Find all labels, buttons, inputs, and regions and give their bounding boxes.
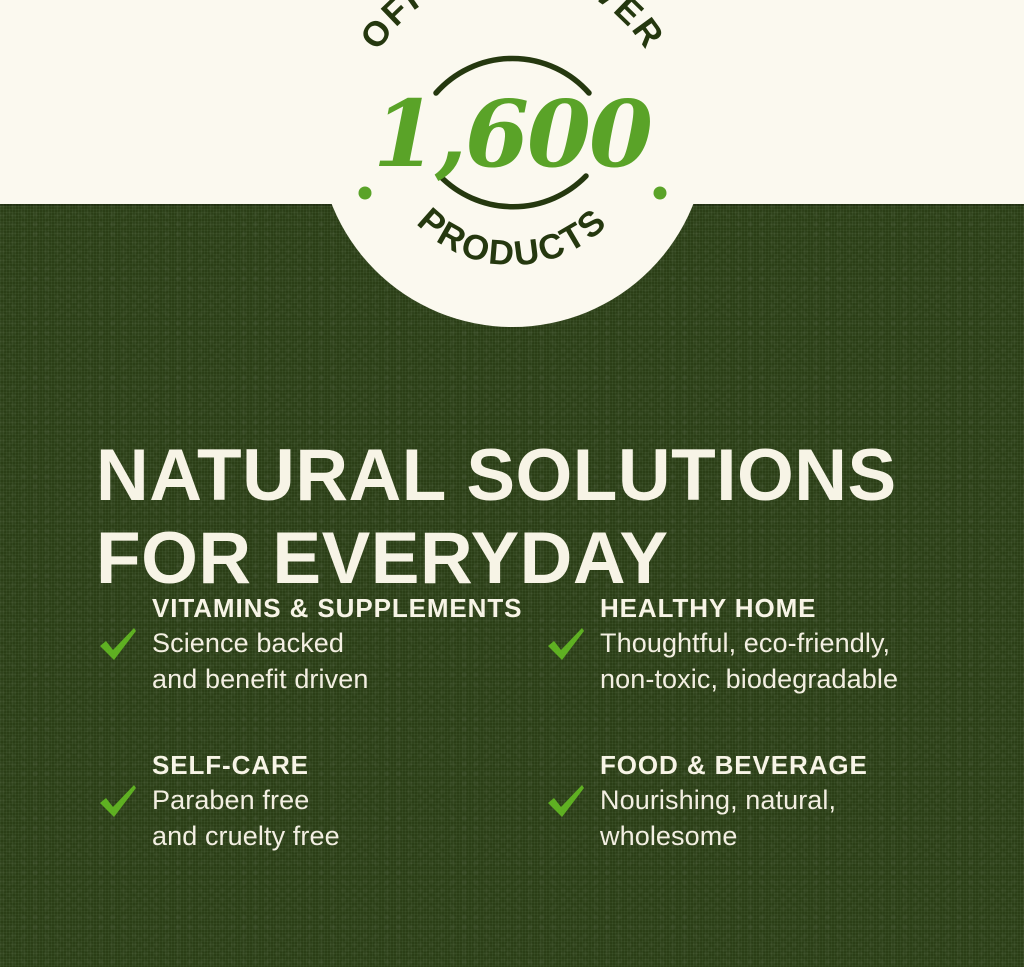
feature-desc-line-1: Thoughtful, eco-friendly, xyxy=(600,625,898,661)
feature-title-line-1: VITAMINS & xyxy=(152,593,309,623)
feature-title-line-1: FOOD & BEVERAGE xyxy=(600,750,868,780)
feature-item-self-care: SELF-CARE Paraben free and cruelty free xyxy=(96,749,544,854)
feature-desc-line-1: Nourishing, natural, xyxy=(600,782,868,818)
badge-graphic: OFFERING OVER PRODUCTS 1,600 xyxy=(318,0,707,327)
feature-title: FOOD & BEVERAGE xyxy=(600,749,868,782)
page-title: NATURAL SOLUTIONS FOR EVERYDAY xyxy=(96,434,976,600)
feature-title-line-2: SUPPLEMENTS xyxy=(317,593,522,623)
badge-dot-right xyxy=(654,187,667,200)
offering-over-products-badge: OFFERING OVER PRODUCTS 1,600 xyxy=(318,0,707,327)
feature-body: VITAMINS & SUPPLEMENTS Science backed an… xyxy=(152,592,522,697)
feature-title: SELF-CARE xyxy=(152,749,340,782)
feature-item-food-beverage: FOOD & BEVERAGE Nourishing, natural, who… xyxy=(544,749,984,854)
feature-list: VITAMINS & SUPPLEMENTS Science backed an… xyxy=(96,592,984,854)
feature-desc-line-2: and benefit driven xyxy=(152,661,522,697)
feature-desc-line-1: Science backed xyxy=(152,625,522,661)
headline-line-2: FOR EVERYDAY xyxy=(96,517,976,600)
feature-item-healthy-home: HEALTHY HOME Thoughtful, eco-friendly, n… xyxy=(544,592,984,697)
check-icon xyxy=(544,623,588,667)
feature-body: HEALTHY HOME Thoughtful, eco-friendly, n… xyxy=(600,592,898,697)
feature-desc-line-2: wholesome xyxy=(600,818,868,854)
feature-title-line-1: SELF-CARE xyxy=(152,750,309,780)
feature-body: FOOD & BEVERAGE Nourishing, natural, who… xyxy=(600,749,868,854)
promotional-banner: OFFERING OVER PRODUCTS 1,600 NATURAL SOL… xyxy=(0,0,1024,967)
feature-title-line-1: HEALTHY HOME xyxy=(600,593,816,623)
badge-dot-left xyxy=(359,187,372,200)
feature-description: Paraben free and cruelty free xyxy=(152,782,340,854)
check-icon xyxy=(96,780,140,824)
check-icon xyxy=(96,623,140,667)
feature-title: HEALTHY HOME xyxy=(600,592,898,625)
feature-description: Thoughtful, eco-friendly, non-toxic, bio… xyxy=(600,625,898,697)
feature-desc-line-2: and cruelty free xyxy=(152,818,340,854)
badge-bottom-arc-text: PRODUCTS xyxy=(410,200,615,273)
feature-description: Nourishing, natural, wholesome xyxy=(600,782,868,854)
feature-desc-line-1: Paraben free xyxy=(152,782,340,818)
feature-item-vitamins: VITAMINS & SUPPLEMENTS Science backed an… xyxy=(96,592,544,697)
badge-product-count: 1,600 xyxy=(373,80,652,188)
check-icon xyxy=(544,780,588,824)
headline-line-1: NATURAL SOLUTIONS xyxy=(96,434,976,517)
feature-body: SELF-CARE Paraben free and cruelty free xyxy=(152,749,340,854)
feature-description: Science backed and benefit driven xyxy=(152,625,522,697)
feature-title: VITAMINS & SUPPLEMENTS xyxy=(152,592,522,625)
feature-desc-line-2: non-toxic, biodegradable xyxy=(600,661,898,697)
badge-top-arc-text: OFFERING OVER xyxy=(353,0,673,56)
